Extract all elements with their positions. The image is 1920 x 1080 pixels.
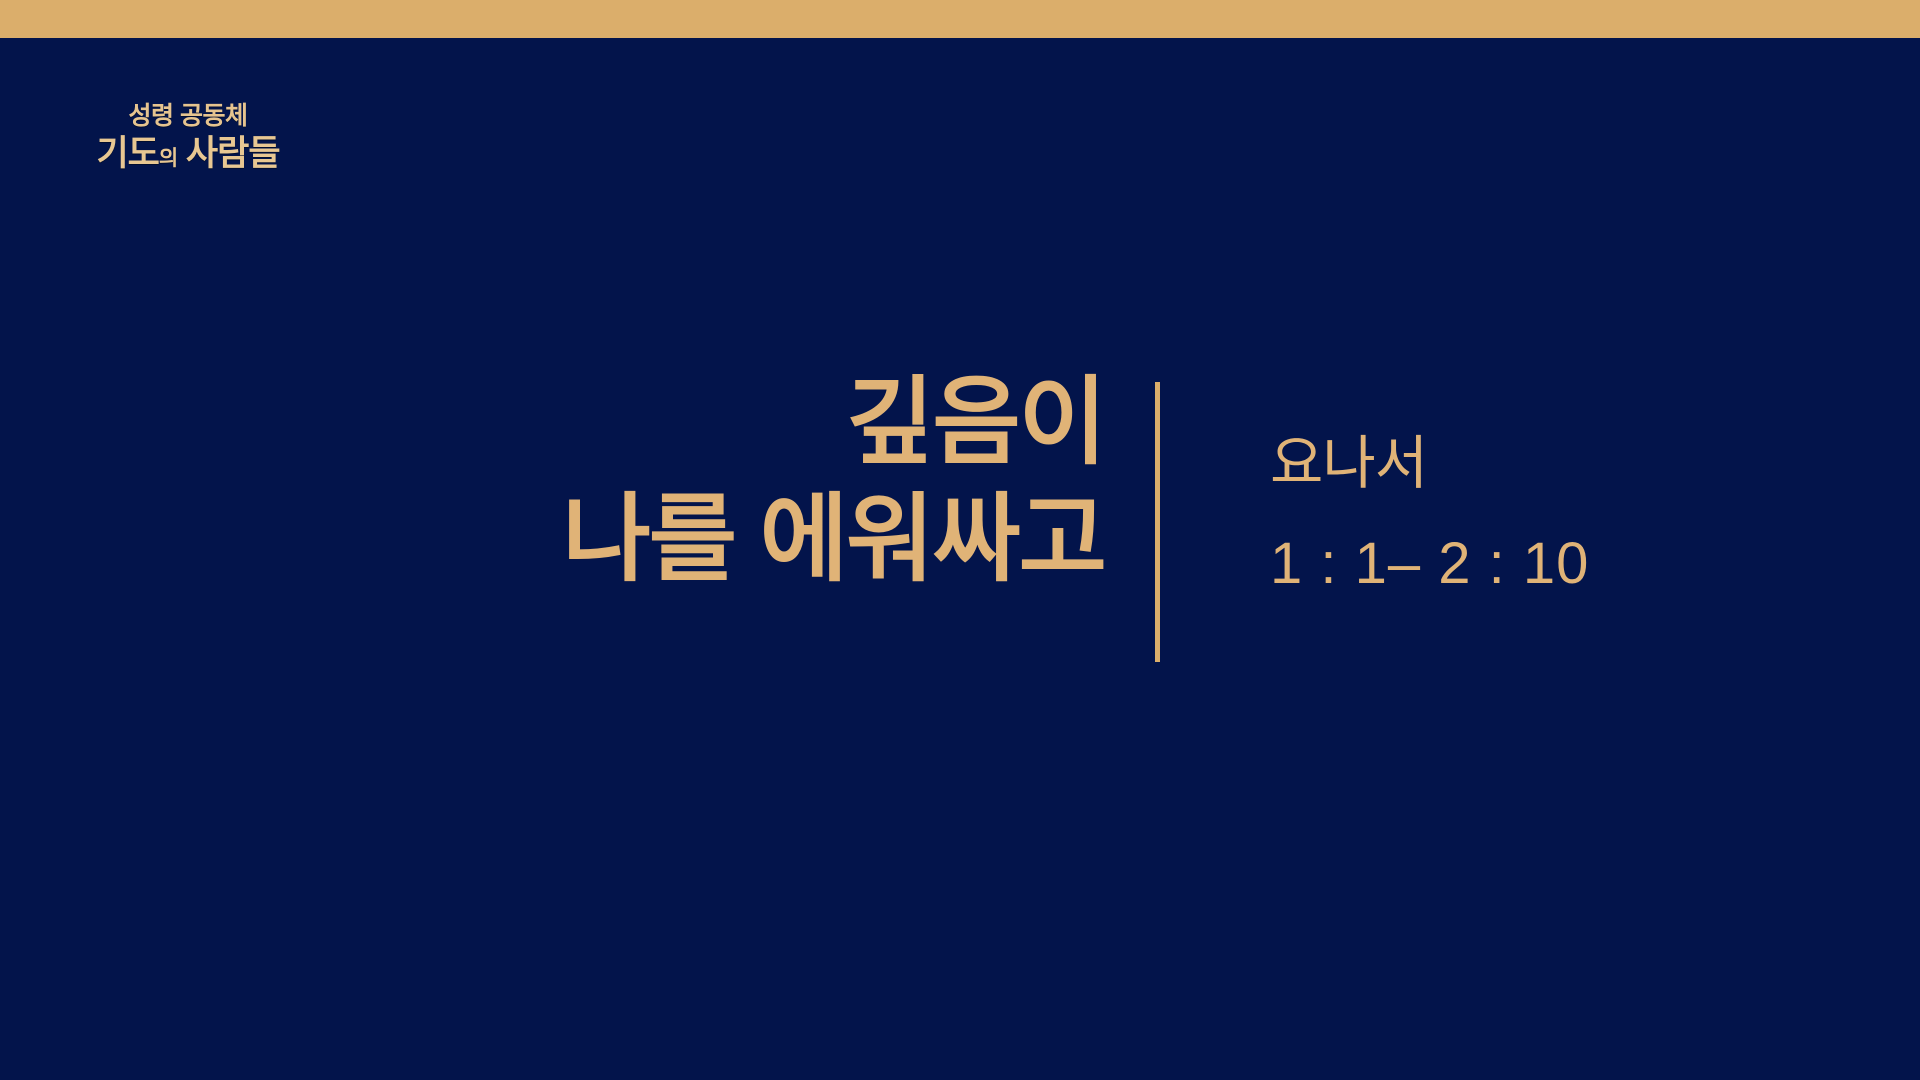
- scripture-book-name: 요나서: [1270, 429, 1589, 499]
- sermon-title-slide: 성령 공동체 기도의 사람들 깊음이 나를 에워싸고 요나서 1 : 1– 2 …: [0, 0, 1920, 1080]
- logo-tagline: 성령 공동체: [58, 104, 318, 129]
- sermon-title: 깊음이 나를 에워싸고: [0, 364, 1155, 664]
- ministry-logo: 성령 공동체 기도의 사람들: [58, 104, 318, 171]
- scripture-reference: 요나서 1 : 1– 2 : 10: [1160, 364, 1589, 664]
- scripture-verse-range: 1 : 1– 2 : 10: [1270, 529, 1589, 599]
- top-accent-bar: [0, 0, 1920, 38]
- logo-name-particle: 의: [159, 147, 177, 170]
- sermon-title-line-2: 나를 에워싸고: [562, 481, 1105, 598]
- sermon-title-line-1: 깊음이: [846, 364, 1105, 481]
- logo-name-part1: 기도: [96, 134, 158, 173]
- title-composition: 깊음이 나를 에워싸고 요나서 1 : 1– 2 : 10: [0, 364, 1920, 664]
- logo-name: 기도의 사람들: [58, 136, 318, 171]
- logo-name-part2: 사람들: [186, 134, 280, 173]
